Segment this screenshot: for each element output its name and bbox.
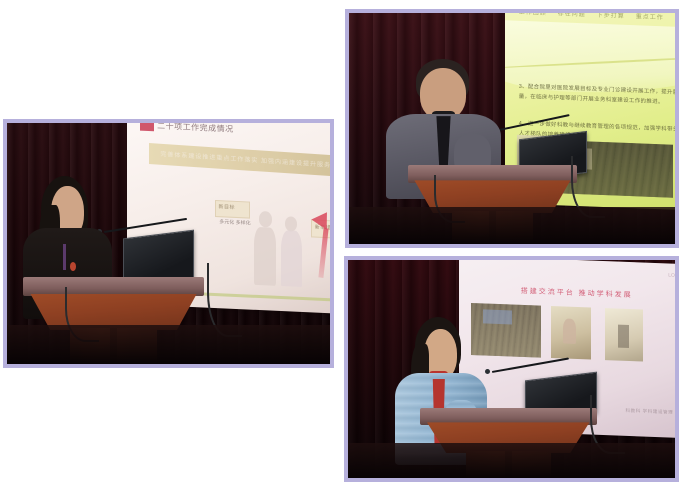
- slide-1-figure-female-head: [285, 216, 297, 231]
- slide-2-header-item-3: 下步打算: [597, 13, 625, 20]
- speaker-lanyard: [63, 244, 65, 270]
- slide-2-header-item-1: 工作回顾: [519, 13, 547, 17]
- slide-2-header-item-4: 重点工作: [636, 13, 664, 21]
- slide-1-callout-left-text: 新目标: [218, 203, 235, 211]
- stage-floor: [348, 443, 675, 478]
- stage-floor: [349, 207, 675, 244]
- slide-3-title: 搭建交流平台 推动学科发展: [521, 286, 633, 300]
- stage-floor: [7, 325, 330, 364]
- slide-2-header-item-2: 存在问题: [558, 13, 586, 18]
- photo-speaker-man-grey-suit[interactable]: 工作回顾 存在问题 下步打算 重点工作 3、配合院里对医院发展目标及专业门诊建设…: [345, 9, 679, 248]
- slide-2-header-items: 工作回顾 存在问题 下步打算 重点工作: [519, 13, 664, 21]
- slide-1-figure-female-body: [280, 230, 301, 287]
- slide-1-callout-left: 新目标: [214, 200, 249, 219]
- podium-top: [23, 277, 204, 296]
- slide-1-heading: 二十项工作完成情况: [140, 123, 234, 134]
- photo-2-scene: 工作回顾 存在问题 下步打算 重点工作 3、配合院里对医院发展目标及专业门诊建设…: [349, 13, 675, 244]
- slide-1-title-text: 二十项工作完成情况: [157, 123, 234, 134]
- photo-speaker-woman-dark-coat[interactable]: 二十项工作完成情况 完善体系建设推进重点工作落实 加强内涵建设提升服务能力 新目…: [3, 119, 334, 368]
- slide-1-figure-male-body: [254, 226, 276, 285]
- slide-3-image-tile-1: [471, 303, 542, 358]
- slide-3-image-tile-2: [551, 306, 591, 360]
- speaker-badge: [70, 262, 76, 271]
- slide-1-gold-band: 完善体系建设推进重点工作落实 加强内涵建设提升服务能力: [148, 143, 330, 177]
- slide-3-image-tile-3: [605, 308, 643, 362]
- photo-3-scene: LOGO 搭建交流平台 推动学科发展 科教科 学科建设管理: [348, 260, 675, 478]
- slide-1-mini-text: 多元化 多样化: [219, 219, 250, 228]
- photo-speaker-woman-blue-jacket[interactable]: LOGO 搭建交流平台 推动学科发展 科教科 学科建设管理: [344, 256, 679, 482]
- slide-1-title-marker: [140, 123, 154, 131]
- podium-top: [420, 408, 597, 424]
- slide-1-figure-male-head: [258, 211, 271, 227]
- slide-1-band-text: 完善体系建设推进重点工作落实 加强内涵建设提升服务能力: [160, 148, 330, 169]
- slide-3-corner-logo: LOGO: [668, 272, 675, 279]
- photo-1-scene: 二十项工作完成情况 完善体系建设推进重点工作落实 加强内涵建设提升服务能力 新目…: [7, 123, 330, 364]
- slide-3-caption: 科教科 学科建设管理: [626, 408, 674, 416]
